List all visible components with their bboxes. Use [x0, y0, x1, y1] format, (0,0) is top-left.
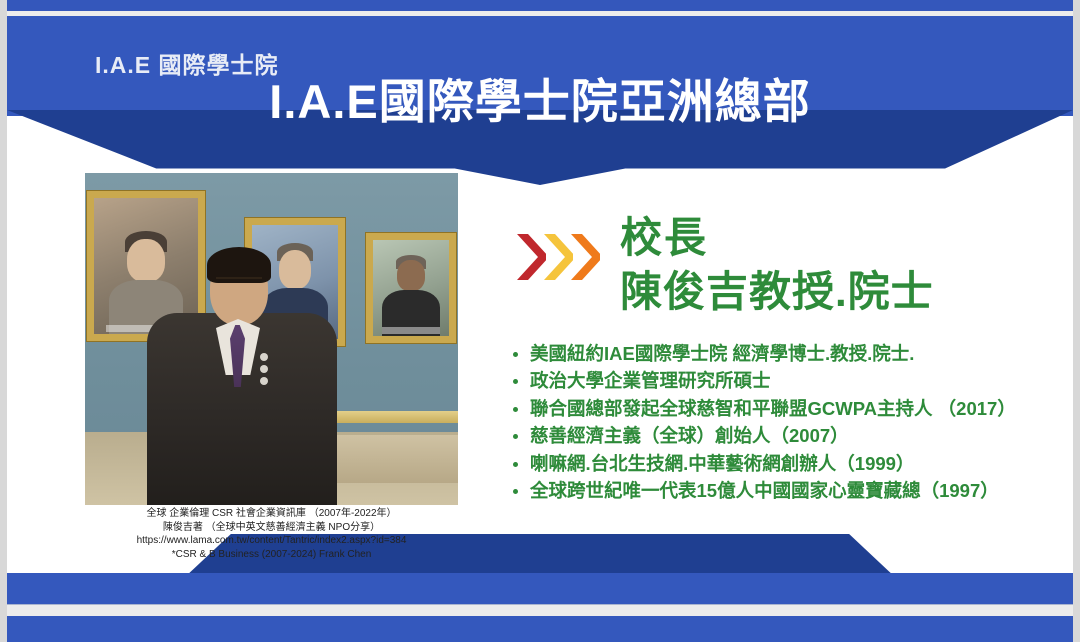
list-item: 慈善經濟主義（全球）創始人（2007）	[508, 422, 1068, 449]
list-item: 政治大學企業管理研究所碩士	[508, 367, 1068, 394]
bottom-bar-gap	[7, 605, 1073, 616]
bottom-accent-bar-1	[7, 573, 1073, 605]
page-title: I.A.E國際學士院亞洲總部	[0, 63, 1080, 132]
profile-role: 校長	[620, 212, 934, 264]
photo-scene	[85, 173, 458, 505]
list-item: 美國紐約IAE國際學士院 經濟學博士.教授.院士.	[508, 340, 1068, 367]
profile-heading: 校長 陳俊吉教授.院士	[620, 212, 934, 320]
person-eyes	[216, 277, 262, 288]
chevron-accent-group	[514, 231, 614, 283]
bottom-accent-bar-2	[7, 616, 1073, 642]
person-lapel-pins	[260, 353, 269, 387]
wall-portrait-frame-3	[366, 233, 456, 343]
caption-line-1: 全球 企業倫理 CSR 社會企業資訊庫 （2007年-2022年）	[85, 507, 458, 521]
list-item: 聯合國總部發起全球慈智和平聯盟GCWPA主持人 （2017）	[508, 395, 1068, 422]
presentation-slide: I.A.E 國際學士院 I.A.E國際學士院亞洲總部	[0, 0, 1080, 642]
portrait-photo	[85, 173, 458, 505]
list-item: 喇嘛網.台北生技網.中華藝術網創辦人（1999）	[508, 450, 1068, 477]
caption-line-2: 陳俊吉著 （全球中英文慈善經濟主義 NPO分享）	[85, 521, 458, 535]
list-item: 全球跨世紀唯一代表15億人中國國家心靈寶藏總（1997）	[508, 477, 1068, 504]
credentials-list: 美國紐約IAE國際學士院 經濟學博士.教授.院士. 政治大學企業管理研究所碩士 …	[508, 340, 1068, 504]
caption-line-3: https://www.lama.com.tw/content/Tantric/…	[85, 534, 458, 548]
profile-name: 陳俊吉教授.院士	[620, 264, 934, 320]
chevron-right-icon-orange	[568, 231, 600, 283]
caption-line-4: *CSR & B Business (2007-2024) Frank Chen	[85, 548, 458, 562]
photo-caption: 全球 企業倫理 CSR 社會企業資訊庫 （2007年-2022年） 陳俊吉著 （…	[85, 507, 458, 561]
